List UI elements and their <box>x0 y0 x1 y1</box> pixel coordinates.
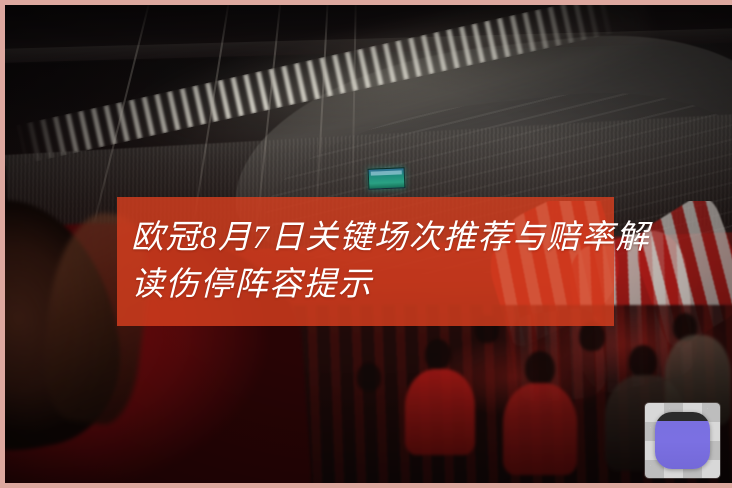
title-line-2: 读伤停阵容提示 <box>131 262 604 309</box>
app-icon-watermark[interactable] <box>645 403 720 478</box>
title-line-1: 欧冠8月7日关键场次推荐与赔率解 <box>131 215 604 262</box>
screenshot-root: 欧冠8月7日关键场次推荐与赔率解 读伤停阵容提示 <box>0 0 732 488</box>
title-banner: 欧冠8月7日关键场次推荐与赔率解 读伤停阵容提示 <box>117 197 614 326</box>
crowd-jersey <box>503 383 577 475</box>
app-icon-tile <box>655 412 710 469</box>
crowd-head <box>629 345 657 377</box>
stadium-scoreboard <box>368 167 406 190</box>
crowd-head <box>357 363 381 391</box>
crowd-head <box>525 351 555 385</box>
crowd-jersey <box>405 369 475 455</box>
crowd-head <box>425 339 451 369</box>
